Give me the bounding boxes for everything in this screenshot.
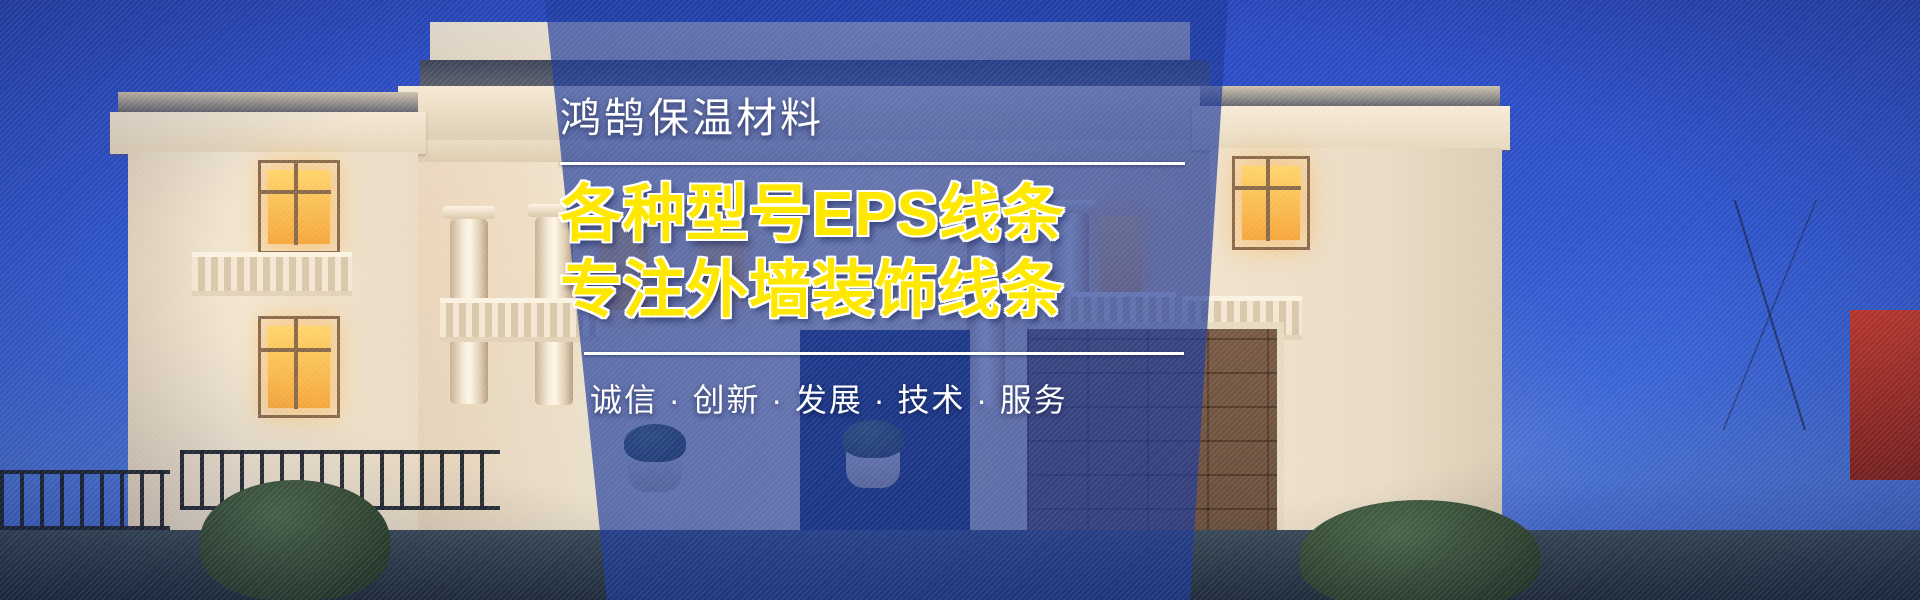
balustrade [192,252,352,296]
shrub [842,420,904,458]
company-name: 鸿鹄保温材料 [560,96,1220,141]
hero-banner: 鸿鹄保温材料 各种型号EPS线条 专注外墙装饰线条 诚信 · 创新 · 发展 ·… [0,0,1920,600]
roof-slab-center [430,22,1190,62]
shrub [1300,500,1540,600]
window-mullion [1235,186,1301,190]
window-frame [1232,156,1310,250]
window-mullion [1266,159,1270,241]
column-capital [443,206,495,219]
tagline: 诚信 · 创新 · 发展 · 技术 · 服务 [590,375,1220,421]
window-mullion [294,319,298,409]
divider-top [560,162,1185,165]
headline-group: 各种型号EPS线条 专注外墙装饰线条 [560,177,1220,330]
shrub [624,424,686,462]
cornice-right-wing [1192,106,1510,150]
shrub [200,480,390,600]
banner-text-block: 鸿鹄保温材料 各种型号EPS线条 专注外墙装饰线条 诚信 · 创新 · 发展 ·… [560,96,1220,421]
window-mullion [261,190,331,194]
window-mullion [261,348,331,352]
divider-bottom [584,352,1184,355]
headline-line-1: 各种型号EPS线条 [560,177,1220,253]
window-frame [258,316,340,418]
roof-eave-center [420,60,1210,86]
iron-railing [0,470,170,530]
headline-line-2: 专注外墙装饰线条 [560,253,1220,329]
roof-right-wing [1200,86,1500,108]
window-mullion [294,163,298,245]
cornice-left-wing [110,112,426,154]
tree-branch [1640,200,1900,430]
roof-left-wing [118,92,418,114]
window-frame [258,160,340,254]
